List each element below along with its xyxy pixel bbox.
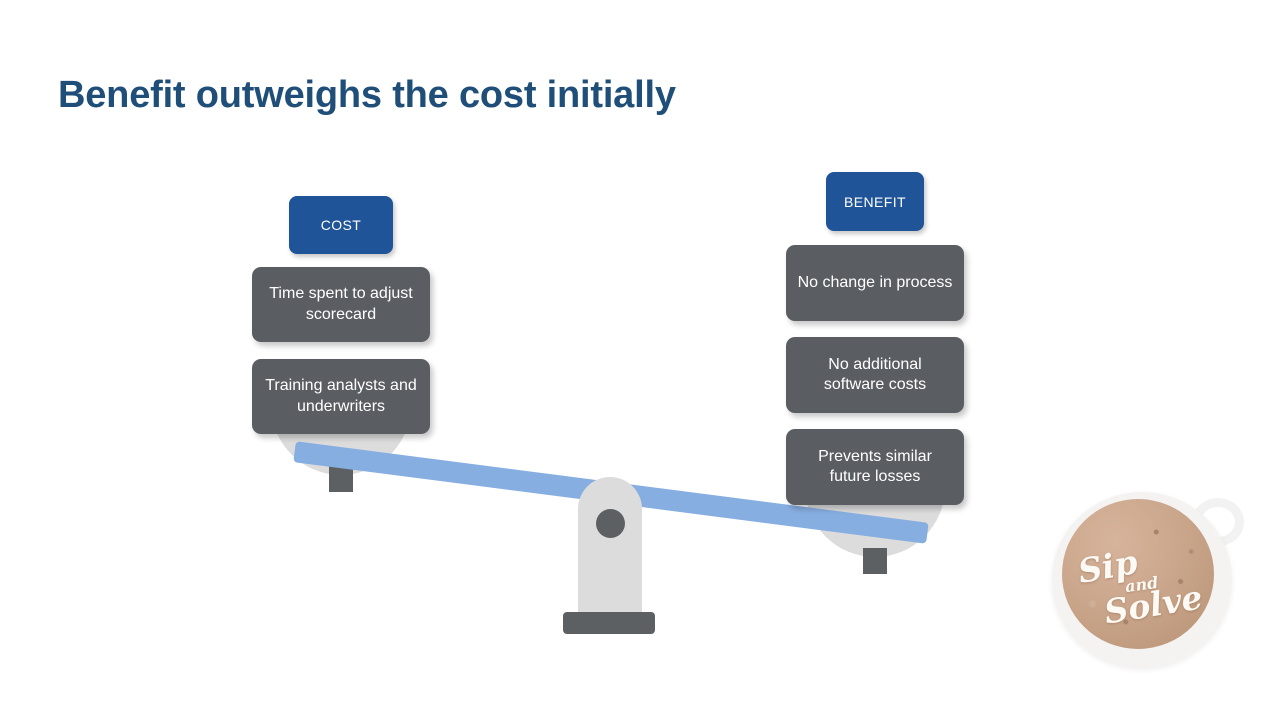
page-title-prefix: Benefit outweighs the cost — [58, 74, 547, 116]
cost-item-box[interactable]: Time spent to adjust scorecard — [252, 267, 430, 342]
sip-and-solve-logo: Sip and Solve — [1048, 486, 1246, 670]
benefit-item-box[interactable]: Prevents similar future losses — [786, 429, 964, 505]
logo-wordmark: Sip and Solve — [1062, 499, 1214, 649]
benefit-column: BENEFIT No change in process No addition… — [786, 172, 964, 521]
logo-word-solve: Solve — [1102, 578, 1205, 632]
page-title: Benefit outweighs the cost initially — [58, 74, 676, 118]
balance-base-plate — [563, 612, 655, 634]
cost-item-box[interactable]: Training analysts and underwriters — [252, 359, 430, 434]
page-title-emphasis: initially — [547, 74, 676, 116]
benefit-item-box[interactable]: No additional software costs — [786, 337, 964, 413]
cost-column: COST Time spent to adjust scorecard Trai… — [252, 196, 430, 451]
benefit-pan-post — [863, 548, 887, 574]
benefit-item-box[interactable]: No change in process — [786, 245, 964, 321]
benefit-header-badge[interactable]: BENEFIT — [826, 172, 924, 231]
balance-fulcrum — [578, 477, 642, 618]
slide-canvas: Benefit outweighs the cost initially COS… — [0, 0, 1280, 720]
cost-header-badge[interactable]: COST — [289, 196, 393, 254]
balance-pivot-icon — [596, 509, 625, 538]
cost-pan-post — [329, 466, 353, 492]
